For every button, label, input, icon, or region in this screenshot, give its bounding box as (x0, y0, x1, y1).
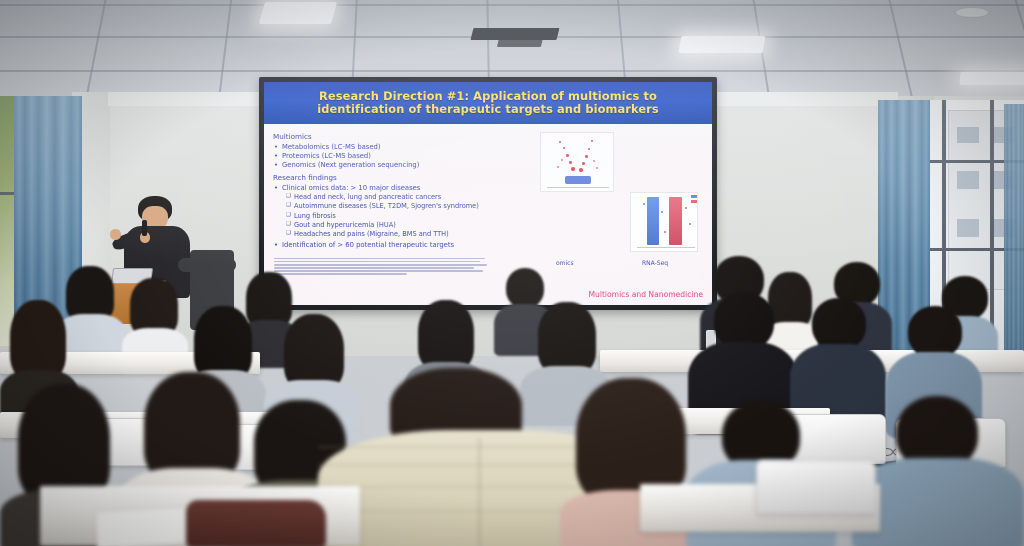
slide-subbullet-lung-fibrosis: Lung fibrosis (294, 212, 528, 220)
handbag (186, 500, 326, 546)
figure-volcano-plot-1 (540, 132, 614, 192)
microphone (142, 220, 147, 236)
curtain-far-right (1004, 104, 1024, 354)
figure-volcano-plot-2 (630, 192, 698, 252)
presenter-left-hand (110, 229, 121, 240)
slide-bullet-clinical-omics: Clinical omics data: > 10 major diseases (282, 184, 528, 192)
slide-subbullet-cancers: Head and neck, lung and pancreatic cance… (294, 193, 528, 201)
slide-heading-multiomics: Multiomics (273, 132, 528, 141)
slide-body: Multiomics Metabolomics (LC-MS based) Pr… (273, 128, 528, 250)
slide-bullet-targets: Identification of > 60 potential therape… (282, 241, 528, 249)
panel-light-right (960, 72, 1024, 85)
ceiling-recessed-slot-2 (497, 38, 543, 47)
slide-heading-research-findings: Research findings (273, 173, 528, 182)
slide-title-banner: Research Direction #1: Application of mu… (264, 82, 712, 124)
ceiling-round-fixture (955, 7, 989, 18)
slide-title-text: Research Direction #1: Application of mu… (278, 90, 698, 117)
slide-bullet-genomics: Genomics (Next generation sequencing) (282, 161, 528, 169)
presenter-chair-arm (178, 258, 236, 272)
slide-citation-block (274, 258, 489, 280)
panel-light-left (259, 2, 337, 24)
lecture-hall-scene: Research Direction #1: Application of mu… (0, 0, 1024, 546)
chair-foreground-right (756, 460, 876, 514)
slide-bullet-metabolomics: Metabolomics (LC-MS based) (282, 143, 528, 151)
slide-subbullet-headaches: Headaches and pains (Migraine, BMS and T… (294, 230, 528, 238)
slide-subbullet-gout: Gout and hyperuricemia (HUA) (294, 221, 528, 229)
presentation-slide: Research Direction #1: Application of mu… (264, 82, 712, 305)
figure-label-rnaseq: RNA-Seq (642, 260, 668, 267)
slide-footer-text: Multiomics and Nanomedicine (588, 290, 703, 299)
projection-screen: Research Direction #1: Application of mu… (259, 77, 717, 310)
figure-label-omics: omics (556, 260, 574, 267)
slide-bullet-proteomics: Proteomics (LC-MS based) (282, 152, 528, 160)
slide-subbullet-autoimmune: Autoimmune diseases (SLE, T2DM, Sjogren'… (294, 202, 528, 210)
panel-light-center (679, 36, 766, 53)
